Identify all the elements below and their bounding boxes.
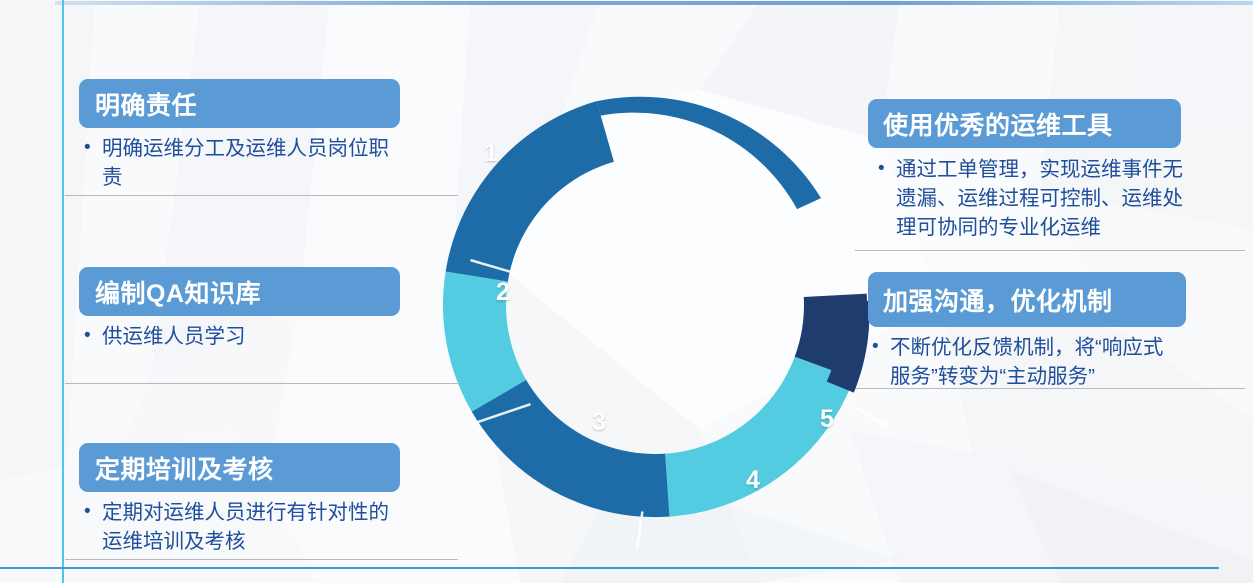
divider-right-1: [855, 250, 1245, 251]
ring-number-2: 2: [496, 278, 510, 307]
divider-left-1: [65, 195, 458, 196]
ring-tail-top: [597, 70, 823, 254]
block-1-body: 明确运维分工及运维人员岗位职责: [79, 134, 392, 192]
content-block-2: 编制QA知识库 供运维人员学习: [79, 267, 400, 351]
block-2-body: 供运维人员学习: [79, 322, 392, 351]
bottom-accent-rule: [0, 567, 1219, 569]
content-block-5: 加强沟通，优化机制 不断优化反馈机制，将“响应式服务”转变为“主动服务”: [868, 272, 1186, 391]
block-4-title: 使用优秀的运维工具: [868, 99, 1181, 148]
slide-canvas: 1 2 3 4 5 明确责任 明确运维分工及运维人员岗位职责 编制QA知识库 供…: [0, 0, 1253, 583]
ring-nick-3: [625, 511, 653, 550]
block-3-title: 定期培训及考核: [79, 443, 400, 492]
ring-nick-4: [854, 399, 888, 436]
content-block-1: 明确责任 明确运维分工及运维人员岗位职责: [79, 79, 400, 192]
block-2-title: 编制QA知识库: [79, 267, 400, 316]
content-block-4: 使用优秀的运维工具 通过工单管理，实现运维事件无遗漏、运维过程可控制、运维处理可…: [868, 99, 1181, 242]
ring-number-4: 4: [746, 466, 760, 495]
block-4-bullet-1: 通过工单管理，实现运维事件无遗漏、运维过程可控制、运维处理可协同的专业化运维: [876, 155, 1188, 242]
block-1-bullet-1: 明确运维分工及运维人员岗位职责: [82, 134, 392, 192]
ring-number-3: 3: [592, 408, 606, 437]
block-4-body: 通过工单管理，实现运维事件无遗漏、运维过程可控制、运维处理可协同的专业化运维: [868, 155, 1188, 242]
block-5-bullet-1: 不断优化反馈机制，将“响应式服务”转变为“主动服务”: [870, 333, 1182, 391]
left-accent-rule: [62, 0, 64, 583]
content-block-3: 定期培训及考核 定期对运维人员进行有针对性的运维培训及考核: [79, 443, 400, 556]
top-accent-rule: [55, 1, 1253, 5]
block-1-title: 明确责任: [79, 79, 400, 128]
block-5-title: 加强沟通，优化机制: [868, 272, 1186, 327]
block-5-body: 不断优化反馈机制，将“响应式服务”转变为“主动服务”: [868, 333, 1182, 391]
divider-left-2: [65, 383, 458, 384]
block-2-bullet-1: 供运维人员学习: [82, 322, 392, 351]
block-3-bullet-1: 定期对运维人员进行有针对性的运维培训及考核: [82, 498, 397, 556]
ring-number-5: 5: [820, 405, 834, 434]
divider-left-3: [65, 559, 458, 560]
ring-number-1: 1: [484, 139, 498, 168]
block-3-body: 定期对运维人员进行有针对性的运维培训及考核: [79, 498, 397, 556]
